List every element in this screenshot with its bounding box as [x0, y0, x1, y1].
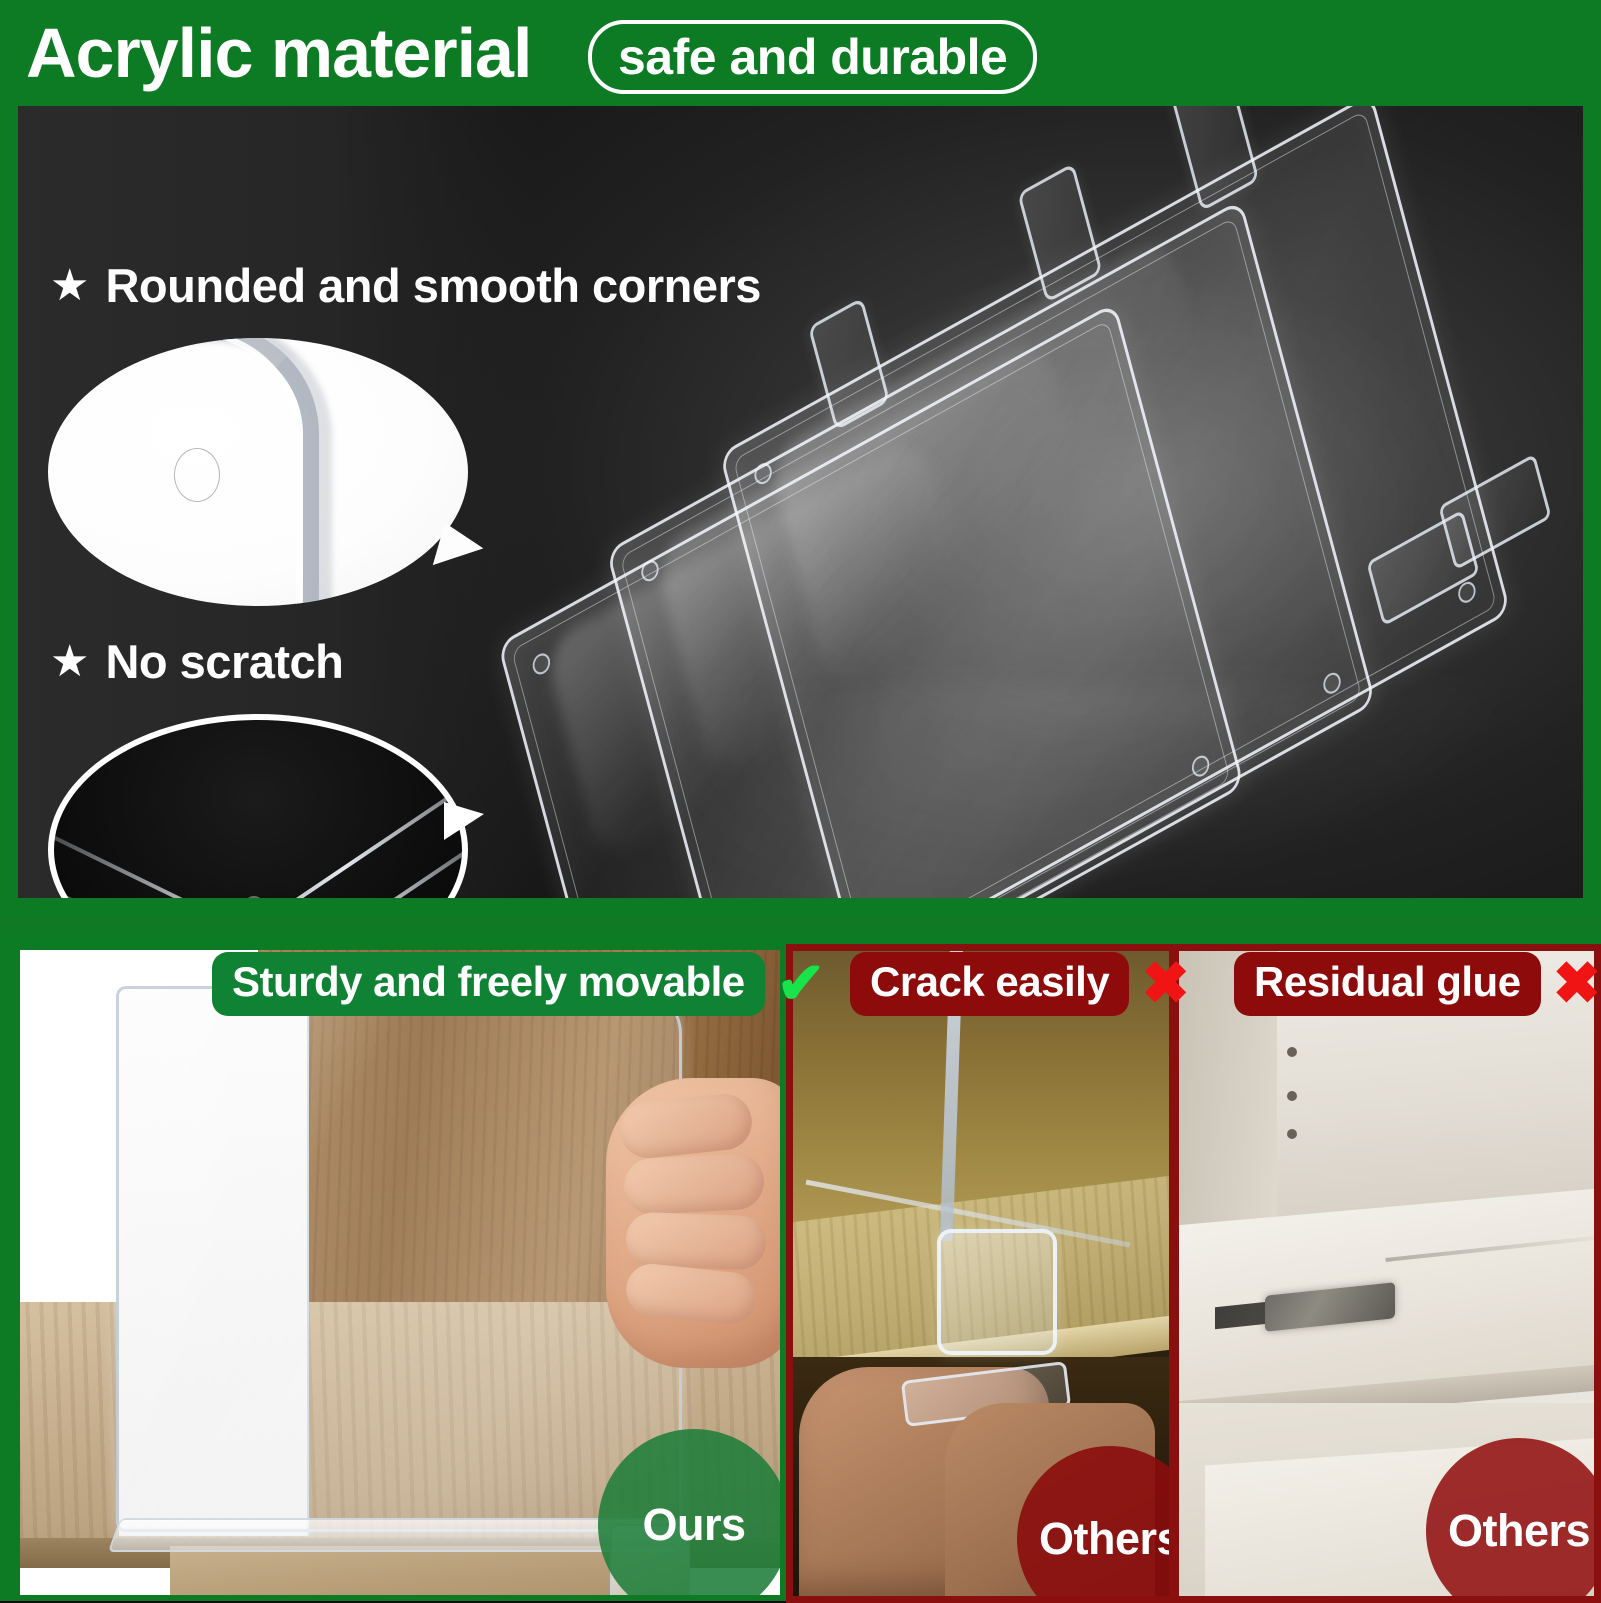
bubble-tail — [444, 802, 484, 840]
panel-crack-easily: Others — [786, 944, 1176, 1603]
header-banner: Acrylic material safe and durable — [0, 0, 1100, 106]
feature-label: No scratch — [105, 634, 343, 689]
product-photo-panel: ★ Rounded and smooth corners ★ No scratc… — [18, 106, 1583, 898]
finger — [623, 1152, 766, 1215]
badge-label: Others — [1448, 1505, 1590, 1557]
inset-bubble-light — [48, 338, 468, 606]
acrylic-sheets-photo — [488, 106, 1583, 898]
star-icon: ★ — [50, 640, 89, 684]
panel-residual-glue: Others — [1172, 944, 1601, 1603]
sheet-edge — [164, 746, 468, 898]
feature-no-scratch: ★ No scratch — [50, 634, 343, 689]
acrylic-clip — [937, 1229, 1057, 1355]
star-icon: ★ — [50, 264, 89, 308]
x-icon: ✖ — [1141, 955, 1190, 1013]
inset-no-scratch — [48, 714, 468, 898]
corner-hole-mark — [174, 448, 220, 502]
header-subtitle: safe and durable — [618, 28, 1007, 86]
feature-rounded-corners: ★ Rounded and smooth corners — [50, 258, 761, 313]
finger — [625, 1212, 767, 1271]
badge-label: Ours — [642, 1499, 745, 1551]
photo-reflection — [529, 686, 1526, 898]
label-crack-easily: Crack easily ✖ — [850, 952, 1190, 1016]
badge-label: Others — [1039, 1513, 1176, 1565]
label-chip: Residual glue — [1234, 952, 1541, 1016]
label-chip: Crack easily — [850, 952, 1129, 1016]
label-residual-glue: Residual glue ✖ — [1234, 952, 1601, 1016]
inset-bubble-dark — [48, 714, 468, 898]
label-sturdy-movable: Sturdy and freely movable ✔ — [212, 952, 825, 1016]
shelf-pin-hole — [1287, 1129, 1297, 1139]
check-icon: ✔ — [777, 955, 826, 1013]
shelf-pin-hole — [1287, 1091, 1297, 1101]
shelf-pin-hole — [1287, 1047, 1297, 1057]
header-subtitle-pill: safe and durable — [588, 20, 1037, 94]
sheet-hole — [244, 896, 264, 898]
x-icon: ✖ — [1553, 955, 1601, 1013]
acrylic-divider-panel — [116, 986, 682, 1532]
feature-label: Rounded and smooth corners — [105, 258, 761, 313]
label-text: Crack easily — [870, 958, 1109, 1006]
inset-rounded-corner — [48, 338, 468, 606]
label-chip: Sturdy and freely movable — [212, 952, 765, 1016]
label-text: Sturdy and freely movable — [232, 958, 745, 1006]
panel-ours: Ours — [14, 944, 786, 1601]
top-section: ★ Rounded and smooth corners ★ No scratc… — [0, 0, 1601, 915]
infographic-page: ★ Rounded and smooth corners ★ No scratc… — [0, 0, 1601, 1601]
page-title: Acrylic material — [26, 12, 531, 94]
comparison-section: Ours Others — [0, 932, 1601, 1601]
label-text: Residual glue — [1254, 958, 1521, 1006]
